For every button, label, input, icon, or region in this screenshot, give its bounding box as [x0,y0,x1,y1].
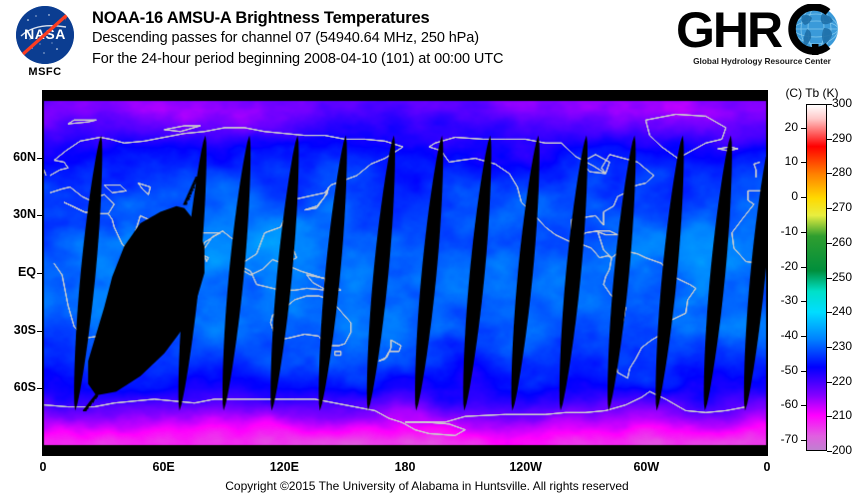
brightness-temperature-map[interactable] [42,90,768,456]
colorbar-kelvin-label: 250 [832,270,854,284]
colorbar-kelvin-tick [827,347,832,348]
colorbar-celsius-tick [801,162,806,163]
lon-tick-label: 0 [737,460,797,474]
colorbar-kelvin-tick [827,243,832,244]
colorbar-celsius-tick [801,232,806,233]
colorbar-celsius-label: 20 [750,120,798,134]
copyright-notice: Copyright ©2015 The University of Alabam… [0,479,854,493]
page-title: NOAA-16 AMSU-A Brightness Temperatures [92,8,672,28]
colorbar-celsius-label: -30 [750,293,798,307]
colorbar-kelvin-label: 210 [832,408,854,422]
lon-tick-label: 60E [134,460,194,474]
lat-tick-label: 60S [0,380,36,394]
colorbar-celsius-label: -10 [750,224,798,238]
colorbar-celsius-label: -40 [750,328,798,342]
colorbar-kelvin-tick [827,173,832,174]
colorbar-celsius-tick [801,197,806,198]
colorbar-celsius-label: 10 [750,154,798,168]
colorbar-celsius-label: -50 [750,363,798,377]
subtitle-channel: Descending passes for channel 07 (54940.… [92,28,672,49]
lat-tick-label: EQ [0,265,36,279]
colorbar-kelvin-tick [827,208,832,209]
colorbar-kelvin-tick [827,278,832,279]
colorbar-kelvin-tick [827,451,832,452]
lat-tick-label: 60N [0,150,36,164]
lat-tick-mark [37,215,43,216]
colorbar-kelvin-label: 200 [832,443,854,457]
lon-tick-label: 60W [616,460,676,474]
colorbar-kelvin-tick [827,312,832,313]
lat-tick-mark [37,158,43,159]
colorbar-kelvin-tick [827,382,832,383]
lon-tick-label: 120E [254,460,314,474]
colorbar-celsius-label: 0 [750,189,798,203]
colorbar-celsius-tick [801,405,806,406]
subtitle-period: For the 24-hour period beginning 2008-04… [92,49,672,70]
ghrc-logo: GHR Global Hydrology Resource Center [676,4,846,76]
lon-tick-label: 120W [496,460,556,474]
colorbar-kelvin-label: 240 [832,304,854,318]
colorbar-kelvin-tick [827,416,832,417]
lat-tick-label: 30N [0,207,36,221]
lat-tick-mark [37,273,43,274]
colorbar-kelvin-tick [827,139,832,140]
lon-tick-label: 0 [13,460,73,474]
colorbar-celsius-tick [801,336,806,337]
colorbar-celsius-tick [801,128,806,129]
colorbar-kelvin-label: 260 [832,235,854,249]
colorbar-celsius-tick [801,440,806,441]
colorbar-kelvin-label: 270 [832,200,854,214]
colorbar [806,104,827,451]
lat-tick-mark [37,388,43,389]
colorbar-kelvin-label: 290 [832,131,854,145]
map-raster [43,91,767,455]
colorbar-celsius-label: -70 [750,432,798,446]
svg-text:GHR: GHR [676,4,783,56]
nasa-center-label: MSFC [10,66,80,78]
colorbar-kelvin-label: 280 [832,165,854,179]
ghrc-wordmark-icon: GHR [676,4,846,56]
colorbar-gradient [807,105,826,450]
colorbar-kelvin-label: 230 [832,339,854,353]
nasa-logo: NASA MSFC [10,6,80,82]
colorbar-celsius-label: -60 [750,397,798,411]
colorbar-kelvin-label: 220 [832,374,854,388]
colorbar-celsius-tick [801,371,806,372]
colorbar-kelvin-tick [827,104,832,105]
colorbar-kelvin-label: 300 [832,96,854,110]
lat-tick-label: 30S [0,323,36,337]
lat-tick-mark [37,331,43,332]
title-block: NOAA-16 AMSU-A Brightness Temperatures D… [92,8,672,70]
ghrc-subtitle: Global Hydrology Resource Center [678,56,846,66]
nasa-meatball-icon: NASA [16,6,74,64]
colorbar-celsius-tick [801,267,806,268]
lon-tick-label: 180 [375,460,435,474]
colorbar-celsius-tick [801,301,806,302]
colorbar-celsius-label: -20 [750,259,798,273]
